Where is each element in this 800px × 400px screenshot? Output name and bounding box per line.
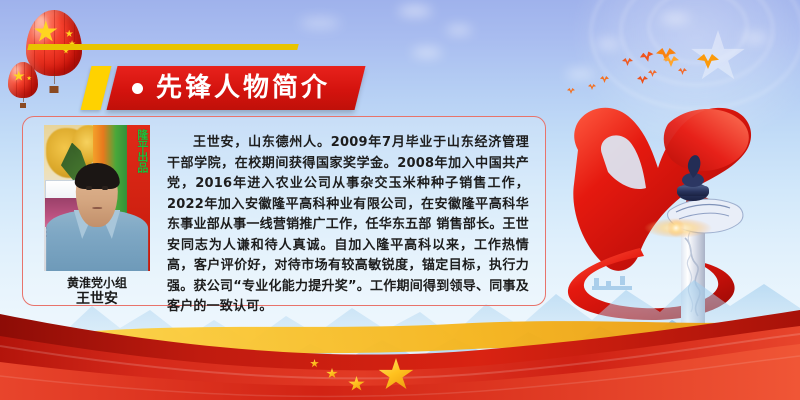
balloon-envelope (8, 62, 38, 98)
backdrop-vertical-text: 隆平出品 (127, 129, 148, 173)
portrait-photo: 隆平出品 (44, 125, 150, 271)
title-red-plate: 先锋人物简介 (107, 66, 366, 110)
hot-air-balloon-small (8, 62, 38, 108)
balloon-cord (23, 97, 24, 103)
person-eye (86, 186, 91, 190)
cloud-shape (300, 18, 340, 28)
page-title: 先锋人物简介 (156, 75, 330, 101)
photo-block: 隆平出品 黄淮党小组 王世安 (41, 125, 153, 297)
poster-canvas: 先锋人物简介 隆平出品 (0, 0, 800, 400)
balloon-basket (50, 86, 59, 93)
person-eye (102, 186, 107, 190)
cloud-shape (412, 48, 442, 57)
dot-icon (132, 83, 143, 94)
cloud-shape (446, 26, 472, 34)
title-underbar (27, 44, 298, 50)
bio-block: 王世安，山东德州人。2009年7月毕业于山东经济管理干部学院，在校期间获得国家奖… (153, 125, 535, 297)
balloon-rib (64, 10, 65, 76)
cloud-shape (398, 6, 432, 16)
title-accent-bar (81, 66, 112, 110)
balloon-basket (20, 103, 26, 108)
balloon-rib (24, 62, 25, 98)
balloon-rib (54, 10, 55, 76)
balloon-cord (54, 74, 55, 84)
section-title-banner: 先锋人物简介 (86, 66, 360, 110)
balloon-star-icon (65, 30, 73, 38)
profile-card: 隆平出品 黄淮党小组 王世安 王世安，山东德州人。2009年7月毕业于山东经济管… (22, 116, 546, 306)
balloon-rib (31, 62, 32, 98)
